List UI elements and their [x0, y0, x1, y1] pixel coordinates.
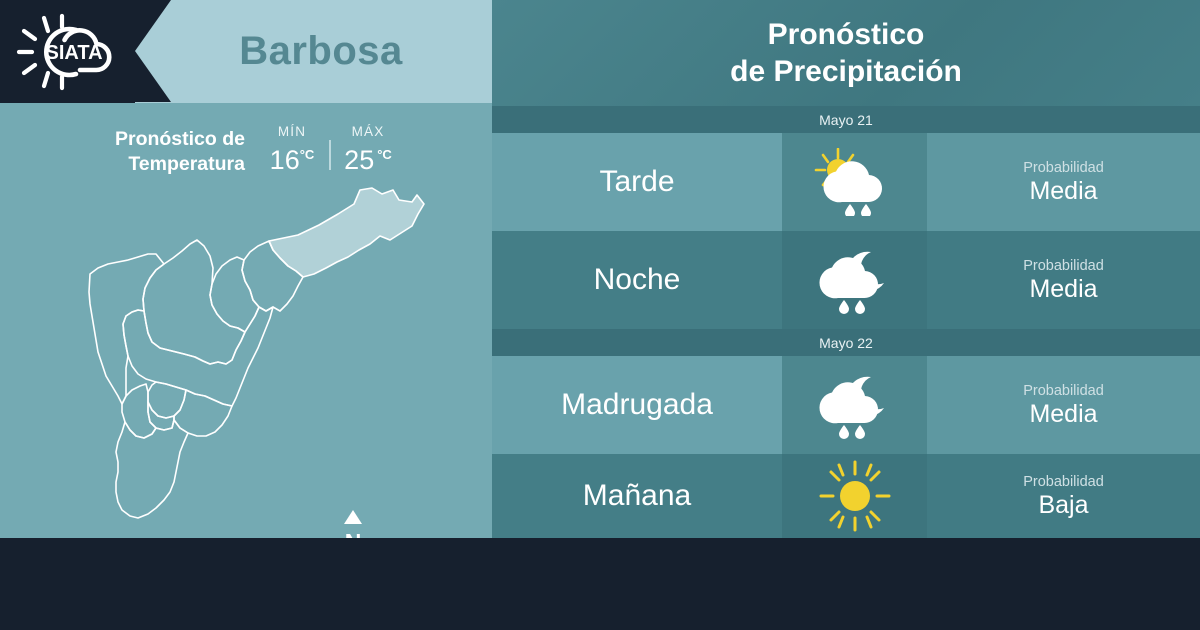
max-value-wrap: 25°C [344, 140, 392, 175]
temperature-title: Pronóstico de Temperatura [70, 124, 245, 177]
period-cell: Mañana [492, 454, 782, 538]
city-name: Barbosa [150, 0, 492, 103]
probability-cell: Probabilidad Media [927, 133, 1200, 231]
forecast-title-line2: de Precipitación [730, 53, 962, 90]
min-label: MÍN [278, 124, 306, 139]
forecast-header: Pronóstico de Precipitación [492, 0, 1200, 106]
probability-label: Probabilidad [1023, 382, 1104, 400]
min-value-wrap: 16°C [270, 140, 315, 175]
min-unit: °C [300, 147, 315, 162]
map-region-caldas [116, 420, 188, 518]
forecast-row-madrugada: Madrugada Probabilidad Media [492, 356, 1200, 454]
probability-label: Probabilidad [1023, 257, 1104, 275]
max-temperature: MÁX 25°C [337, 124, 399, 175]
probability-label: Probabilidad [1023, 473, 1104, 491]
max-label: MÁX [352, 124, 385, 139]
temperature-title-line1: Pronóstico de [70, 127, 245, 152]
left-panel: SIATA Barbosa Pronóstico de Temperatura … [0, 0, 492, 538]
minmax-divider [329, 140, 331, 170]
map-region-la-estrella [122, 384, 156, 438]
probability-cell: Probabilidad Media [927, 231, 1200, 329]
probability-label: Probabilidad [1023, 159, 1104, 177]
period-label: Madrugada [561, 388, 713, 422]
footer: @siatamedellin www.siata.gov.co Con el a… [0, 538, 1200, 630]
probability-value: Baja [1038, 491, 1088, 520]
period-label: Tarde [599, 165, 674, 199]
date-band-may-21: Mayo 21 [492, 106, 1200, 133]
moon-cloud-rain-icon [814, 371, 896, 439]
probability-value: Media [1029, 177, 1097, 206]
forecast-title-line1: Pronóstico [730, 16, 962, 53]
moon-cloud-rain-icon [814, 246, 896, 314]
temperature-title-line2: Temperatura [70, 152, 245, 177]
probability-value: Media [1029, 275, 1097, 304]
min-temperature: MÍN 16°C [261, 124, 323, 175]
max-value: 25 [344, 145, 374, 175]
forecast-title: Pronóstico de Precipitación [730, 16, 962, 90]
period-cell: Tarde [492, 133, 782, 231]
period-label: Mañana [583, 479, 691, 513]
map-region-sabaneta [148, 402, 174, 430]
period-cell: Noche [492, 231, 782, 329]
sun-cloud-icon: SIATA [14, 12, 134, 92]
min-value: 16 [270, 145, 300, 175]
map-region-bello [143, 240, 245, 364]
forecast-row-tarde: Tarde [492, 133, 1200, 231]
probability-value: Media [1029, 400, 1097, 429]
weather-icon-cell [782, 133, 927, 231]
logo-badge-arrow [135, 0, 171, 102]
weather-icon-cell [782, 454, 927, 538]
forecast-row-manana: Mañana [492, 454, 1200, 538]
temperature-block: Pronóstico de Temperatura MÍN 16°C MÁX 2… [70, 124, 430, 186]
weather-icon-cell [782, 356, 927, 454]
weather-icon-cell [782, 231, 927, 329]
probability-cell: Probabilidad Baja [927, 454, 1200, 538]
map-svg [60, 178, 460, 530]
valle-de-aburra-map: N [60, 178, 460, 530]
sun-icon [819, 460, 891, 532]
date-band-may-22: Mayo 22 [492, 329, 1200, 356]
precipitation-forecast-panel: Pronóstico de Precipitación Mayo 21 Tard… [492, 0, 1200, 538]
period-cell: Madrugada [492, 356, 782, 454]
map-region-barbosa [269, 188, 424, 277]
max-unit: °C [377, 147, 392, 162]
weather-forecast-infographic: SIATA Barbosa Pronóstico de Temperatura … [0, 0, 1200, 630]
probability-cell: Probabilidad Media [927, 356, 1200, 454]
siata-logo-text: SIATA [45, 42, 102, 64]
map-region-medellin [123, 307, 273, 406]
sun-cloud-rain-icon [814, 148, 896, 216]
min-max-temperatures: MÍN 16°C MÁX 25°C [261, 124, 399, 175]
forecast-row-noche: Noche Probabilidad Media [492, 231, 1200, 329]
period-label: Noche [594, 263, 681, 297]
